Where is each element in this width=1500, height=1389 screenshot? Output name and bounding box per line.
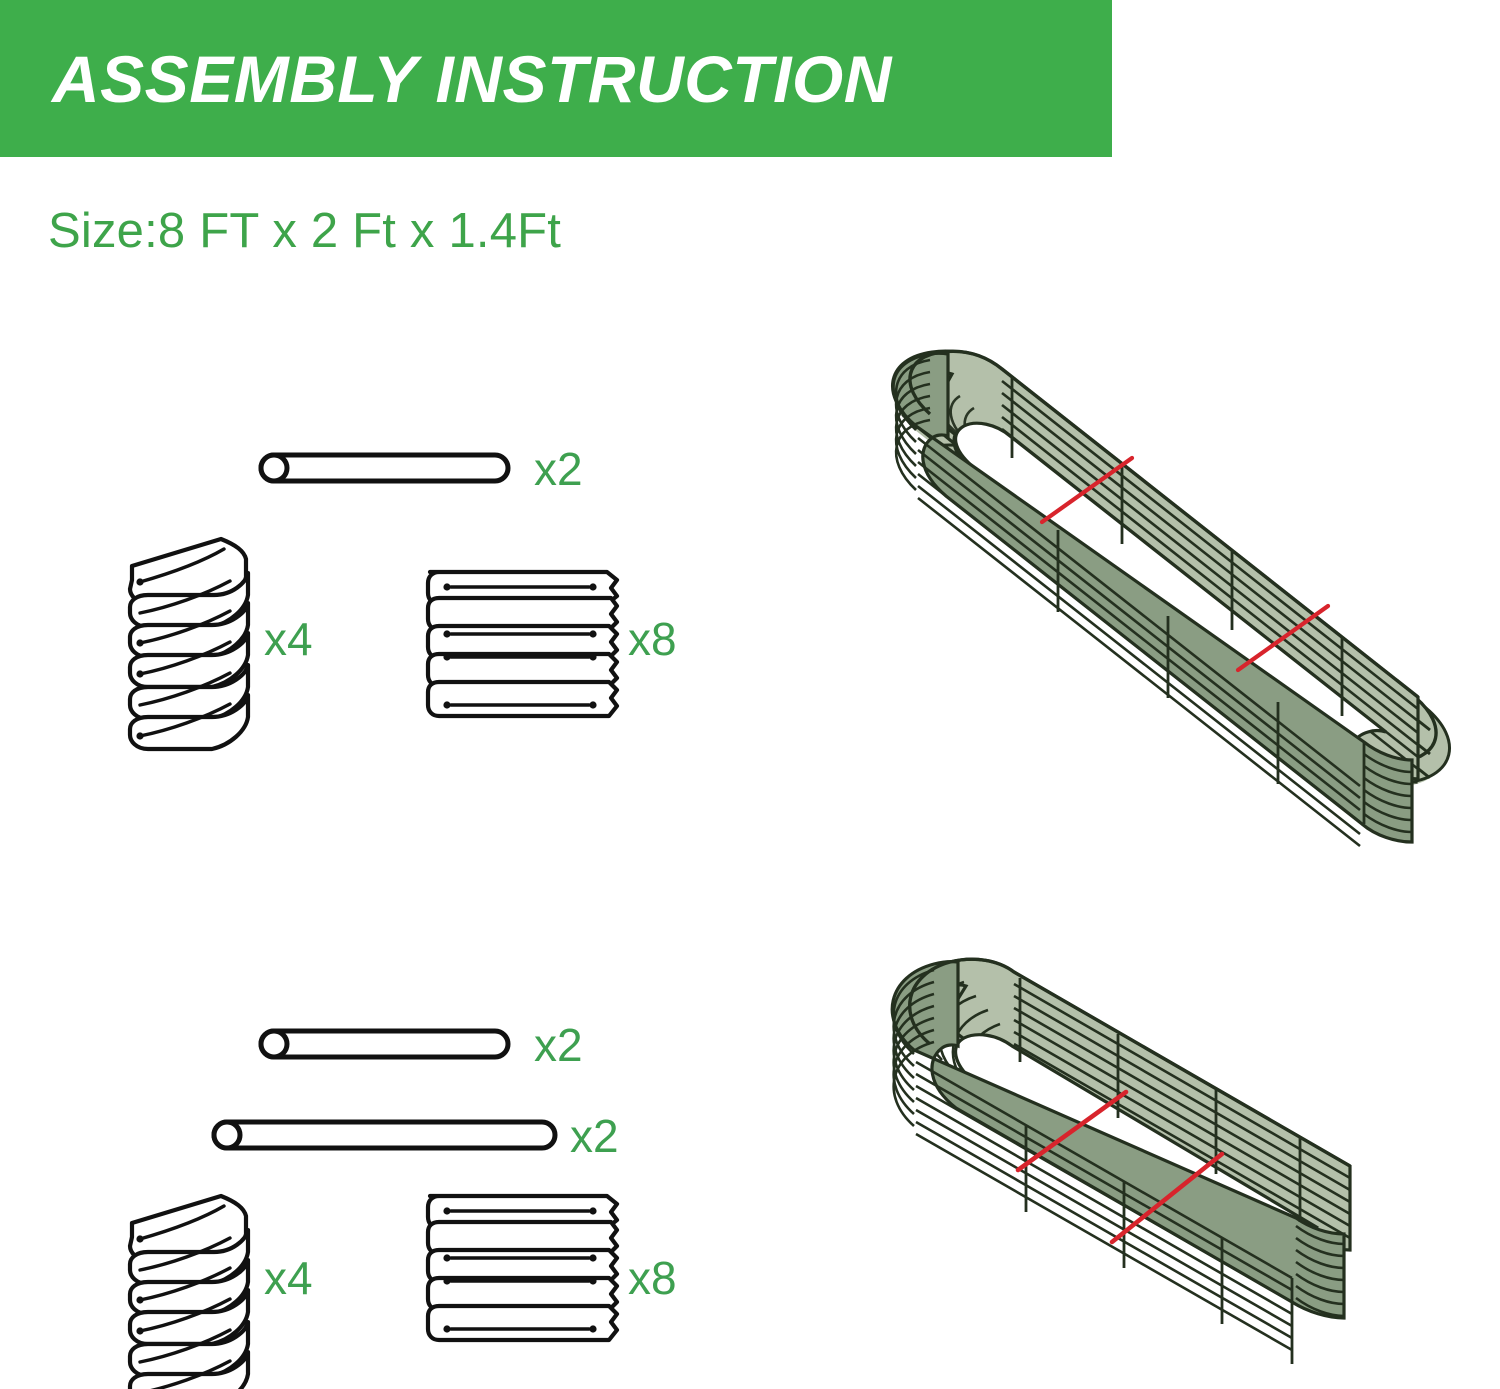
bed-render <box>893 351 1418 846</box>
qty-label-straight-panel-lower: x8 <box>628 1255 677 1301</box>
qty-label-curved-panel-lower: x4 <box>264 1255 313 1301</box>
bed-body <box>892 959 1350 1364</box>
bed-oval-long-low-icon <box>860 330 1500 890</box>
straight-panel-icon <box>425 1190 625 1350</box>
rod-icon <box>252 1022 512 1066</box>
qty-label-rod-long-lower: x2 <box>570 1113 619 1159</box>
part-support-rod-short-lower <box>252 1022 512 1066</box>
rod-icon <box>205 1113 560 1157</box>
part-support-rod-long-lower <box>205 1113 560 1157</box>
bed-oval-short-tall-icon <box>830 920 1450 1389</box>
qty-label-rod-short-lower: x2 <box>534 1022 583 1068</box>
curved-panel-icon <box>118 1190 258 1389</box>
bed-body <box>860 330 1500 890</box>
assembled-bed-long-low <box>860 330 1500 890</box>
assembly-instruction-page: ASSEMBLY INSTRUCTION Size:8 FT x 2 Ft x … <box>0 0 1500 1389</box>
part-straight-side-panel-lower <box>425 1190 625 1350</box>
part-curved-corner-panel-lower <box>118 1190 258 1389</box>
parts-group-lower: x2 x2 <box>0 0 760 1389</box>
assembled-bed-short-tall <box>830 920 1450 1389</box>
